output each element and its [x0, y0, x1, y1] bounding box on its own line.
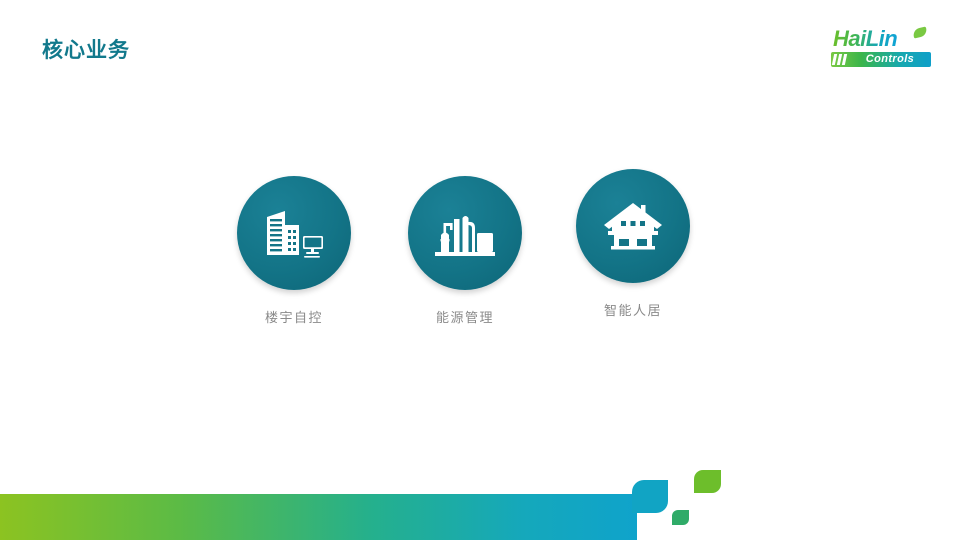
building-automation-icon — [263, 205, 325, 261]
leaf-icon-green — [694, 470, 721, 493]
logo-stripes-icon — [833, 54, 846, 65]
icon-circle[interactable] — [408, 176, 522, 290]
page-title: 核心业务 — [42, 40, 130, 61]
icon-circle[interactable] — [237, 176, 351, 290]
leaf-icon-green-small — [672, 510, 689, 525]
logo-wordmark: HaiLin — [833, 28, 897, 50]
business-card-label: 楼宇自控 — [214, 311, 374, 324]
industrial-plant-icon — [434, 205, 496, 261]
business-card-label: 能源管理 — [385, 311, 545, 324]
house-icon — [602, 198, 664, 254]
icon-circle[interactable] — [576, 169, 690, 283]
slide-canvas: 核心业务 HaiLin Controls — [0, 0, 960, 540]
business-card-label: 智能人居 — [553, 304, 713, 317]
leaf-icon — [912, 26, 928, 38]
footer-gradient-bar — [0, 494, 637, 540]
business-cards-group: 楼宇自控 — [0, 176, 960, 336]
brand-logo: HaiLin Controls — [829, 28, 933, 70]
business-card-building-automation[interactable]: 楼宇自控 — [214, 176, 374, 324]
business-card-energy-management[interactable]: 能源管理 — [385, 176, 545, 324]
leaf-icon-teal — [632, 480, 668, 513]
logo-subtitle: Controls — [851, 52, 929, 67]
business-card-smart-home[interactable]: 智能人居 — [553, 169, 713, 317]
